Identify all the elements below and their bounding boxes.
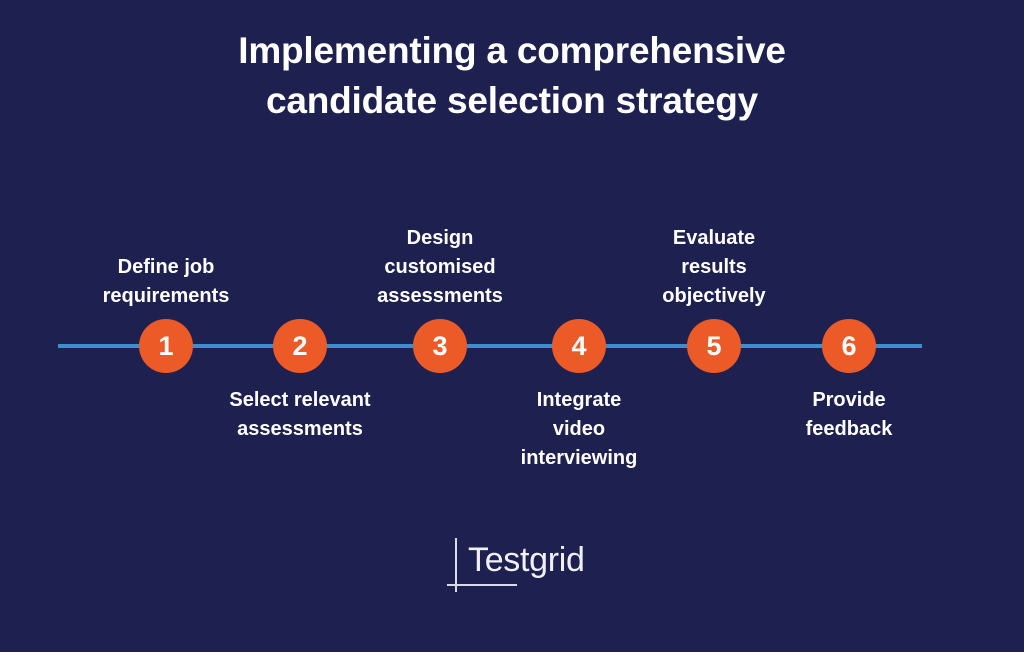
step-marker-6[interactable]: 6	[822, 319, 876, 373]
logo-wordmark: Testgrid	[468, 540, 585, 580]
step-marker-2[interactable]: 2	[273, 319, 327, 373]
step-label-6-line-1: Provide	[729, 386, 969, 415]
infographic-canvas: Implementing a comprehensive candidate s…	[0, 0, 1024, 652]
grid-crosshair-icon-horizontal	[447, 584, 517, 586]
step-label-6: Providefeedback	[729, 386, 969, 444]
testgrid-logo: Testgrid	[447, 533, 577, 595]
step-label-6-line-2: feedback	[729, 415, 969, 444]
timeline-step-6: 6Providefeedback	[729, 0, 969, 652]
